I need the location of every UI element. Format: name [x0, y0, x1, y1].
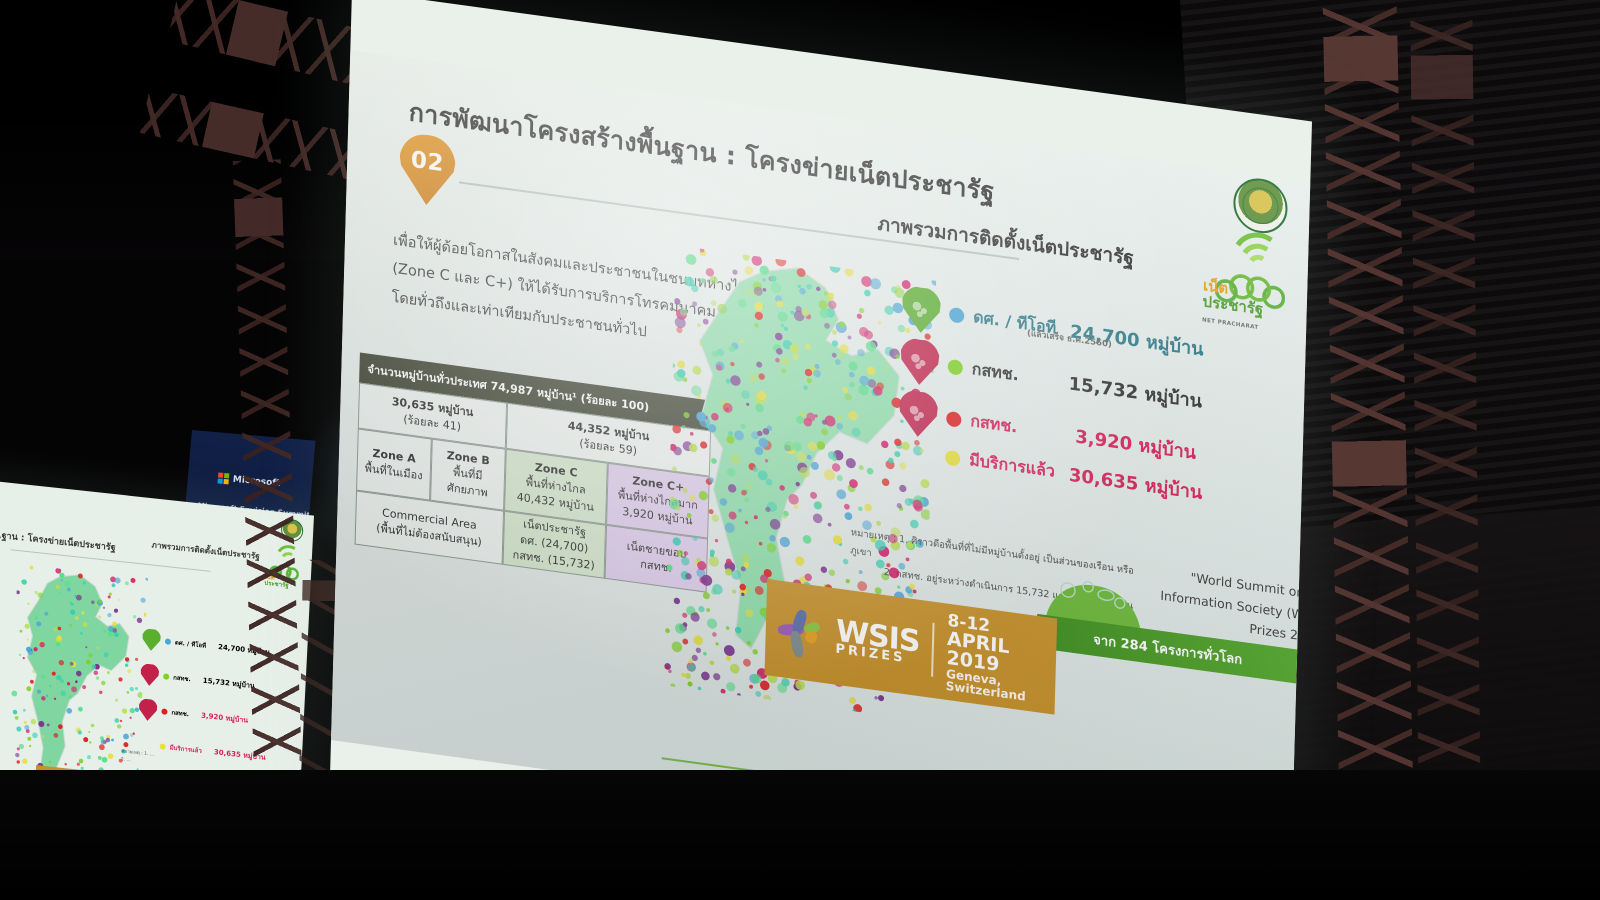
wsis-date-block: 8-12 APRIL 2019 Geneva, Switzerland [946, 612, 1047, 705]
legend-dot-0 [949, 306, 964, 323]
microsoft-grid-icon [217, 472, 229, 484]
net-pracharat-wordmark: เน็ต ประชารัฐ NET PRACHARAT [1202, 278, 1264, 334]
slide-title: การพัฒนาโครงสร้างพื้นฐาน : โครงข่ายเน็ตป… [408, 92, 1029, 217]
net-pracharat-logo: เน็ต ประชารัฐ NET PRACHARAT [1200, 223, 1299, 340]
legend-badge-1 [899, 336, 940, 387]
legend-label-2: กสทช. [970, 409, 1018, 440]
zone-breakdown-table: จำนวนหมู่บ้านทั่วประเทศ 74,987 หมู่บ้าน¹… [355, 352, 712, 592]
wsis-pinwheel-icon [775, 600, 829, 663]
main-projection-screen: การพัฒนาโครงสร้างพื้นฐาน : โครงข่ายเน็ตป… [330, 0, 1312, 900]
legend-label-1: กสทช. [971, 357, 1019, 388]
wsis-wordmark: WSIS PRIZES [835, 618, 920, 666]
floor-backdrop [0, 770, 1600, 900]
legend-badge-2 [898, 388, 939, 439]
table-zone-b: Zone Bพื้นที่มีศักยภาพ [430, 439, 506, 511]
section-number-label: 02 [411, 147, 445, 178]
legend-value-1: 15,732 หมู่บ้าน [1068, 368, 1202, 415]
table-zone-a: Zone Aพื้นที่ในเมือง [356, 428, 432, 500]
wsis-divider [932, 623, 935, 677]
legend-dot-2 [946, 410, 961, 427]
slide-surface: การพัฒนาโครงสร้างพื้นฐาน : โครงข่ายเน็ตป… [331, 50, 1310, 872]
truss-column-right-second [1410, 20, 1481, 900]
secondary-slide-subtitle: ภาพรวมการติดตั้งเน็ตประชารัฐ [151, 538, 260, 563]
section-number-badge: 02 [398, 131, 456, 209]
scene-root: Microsoft Microsoft Envision Summit 2019… [0, 0, 1600, 900]
notes-label: หมายเหตุ : [851, 527, 897, 544]
legend-dot-1 [948, 358, 963, 375]
legend-value-2: 3,920 หมู่บ้าน [1075, 421, 1197, 467]
secondary-notes: หมายเหตุ : 1. ...2. ... [121, 748, 155, 768]
legend-dot-3 [945, 450, 960, 467]
legend-badge-0 [901, 284, 942, 335]
